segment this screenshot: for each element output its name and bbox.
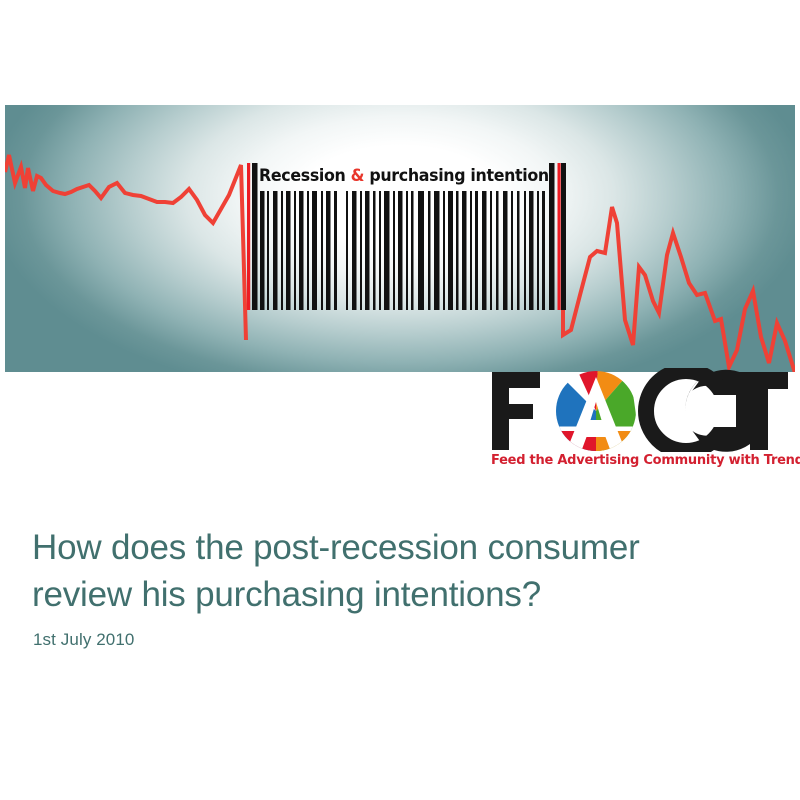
barcode-graphic: Recession & purchasing intention: [243, 163, 568, 310]
slide-root: Recession & purchasing intention: [0, 0, 800, 800]
logo-letter-f: [492, 372, 540, 450]
logo-a-gap: [548, 427, 646, 432]
barcode-data-bars: [260, 191, 545, 310]
headline-line-2: review his purchasing intentions?: [32, 571, 752, 618]
fact-logo: Feed the Advertising Community with Tren…: [490, 368, 798, 478]
barcode-title-suffix: purchasing intention: [364, 166, 549, 185]
headline-line-1: How does the post-recession consumer: [32, 528, 640, 567]
page-title: How does the post-recession consumer rev…: [32, 524, 752, 618]
logo-tagline: Feed the Advertising Community with Tren…: [491, 453, 793, 468]
recession-banner: Recession & purchasing intention: [5, 105, 795, 372]
presentation-date: 1st July 2010: [33, 630, 134, 650]
fact-wordmark: [490, 368, 790, 452]
barcode-edge-line-right: [558, 163, 561, 310]
barcode-title-prefix: Recession: [259, 166, 351, 185]
barcode-title-ampersand: &: [351, 166, 364, 185]
barcode-edge-line-left: [247, 163, 250, 310]
chart-line-right: [563, 165, 795, 372]
barcode-title: Recession & purchasing intention: [259, 163, 543, 189]
logo-letter-a: [548, 368, 646, 452]
chart-line-left: [5, 155, 246, 340]
